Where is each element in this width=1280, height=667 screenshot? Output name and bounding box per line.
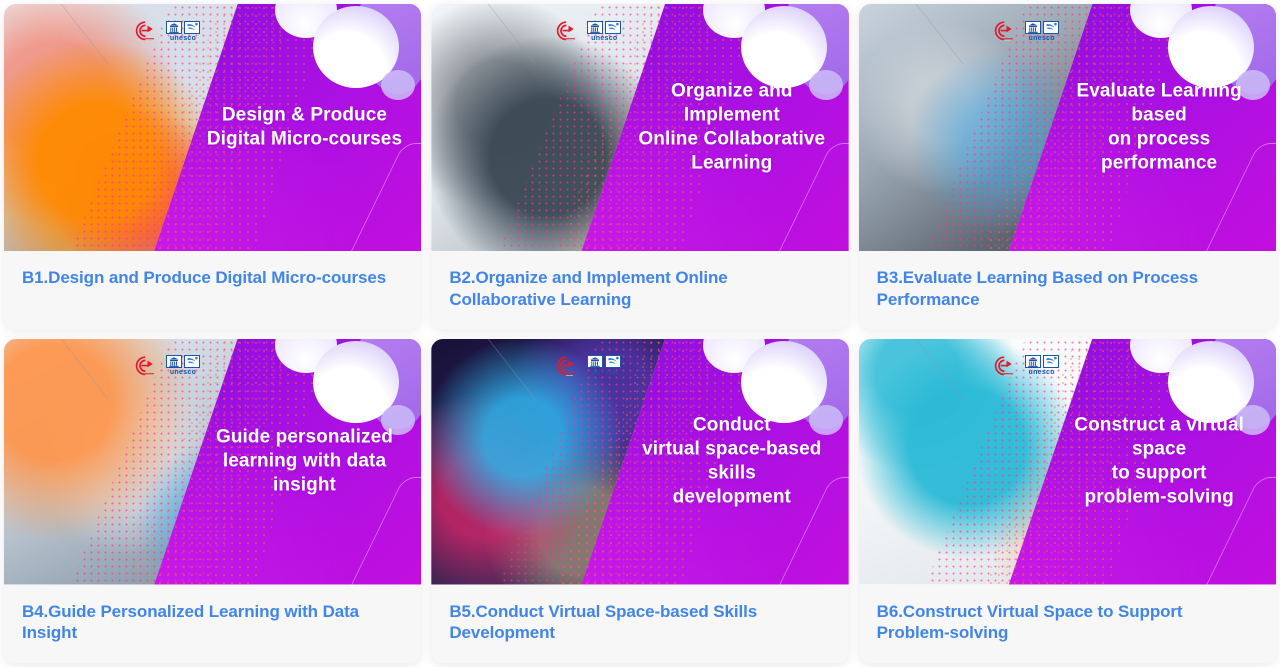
unesco-logo: unesco (1025, 21, 1059, 42)
banner-headline: Organize and ImplementOnline Collaborati… (632, 79, 832, 176)
unesco-wordmark: unesco (170, 35, 196, 42)
card-banner: unesco Construct a virtual spaceto suppo… (859, 339, 1276, 585)
banner-headline: Conductvirtual space-based skillsdevelop… (632, 413, 832, 510)
course-card-b2[interactable]: unesco Organize and ImplementOnline Coll… (431, 4, 848, 329)
logo-group: unesco (132, 19, 200, 43)
card-title-b3[interactable]: B3.Evaluate Learning Based on Process Pe… (877, 267, 1258, 311)
unesco-wordmark: unesco (591, 369, 617, 376)
card-banner: unesco Design & ProduceDigital Micro-cou… (4, 4, 421, 251)
banner-headline: Guide personalizedlearning with data ins… (204, 425, 404, 498)
card-title-b5[interactable]: B5.Conduct Virtual Space-based Skills De… (449, 601, 830, 645)
unesco-logo: unesco (587, 21, 621, 42)
unesco-wordmark: unesco (170, 369, 196, 376)
banner-headline: Design & ProduceDigital Micro-courses (204, 103, 404, 152)
course-card-grid: unesco Design & ProduceDigital Micro-cou… (0, 0, 1280, 667)
card-footer: B3.Evaluate Learning Based on Process Pe… (859, 251, 1276, 329)
cec-red-circle-logo (553, 354, 579, 378)
card-title-b1[interactable]: B1.Design and Produce Digital Micro-cour… (22, 267, 386, 289)
course-card-b6[interactable]: unesco Construct a virtual spaceto suppo… (859, 339, 1276, 664)
cec-red-circle-logo (132, 354, 158, 378)
unesco-logo: unesco (1025, 355, 1059, 376)
card-banner: unesco Evaluate Learning basedon process… (859, 4, 1276, 251)
course-card-b5[interactable]: unesco Conductvirtual space-based skills… (431, 339, 848, 664)
card-banner: unesco Conductvirtual space-based skills… (431, 339, 848, 585)
card-footer: B2.Organize and Implement Online Collabo… (431, 251, 848, 329)
card-title-b6[interactable]: B6.Construct Virtual Space to Support Pr… (877, 601, 1258, 645)
card-banner: unesco Guide personalizedlearning with d… (4, 339, 421, 585)
logo-group: unesco (553, 19, 621, 43)
logo-group: unesco (553, 354, 621, 378)
logo-group: unesco (132, 354, 200, 378)
cec-red-circle-logo (132, 19, 158, 43)
cec-red-circle-logo (991, 19, 1017, 43)
card-banner: unesco Organize and ImplementOnline Coll… (431, 4, 848, 251)
course-card-b1[interactable]: unesco Design & ProduceDigital Micro-cou… (4, 4, 421, 329)
logo-group: unesco (991, 354, 1059, 378)
card-title-b4[interactable]: B4.Guide Personalized Learning with Data… (22, 601, 403, 645)
unesco-logo: unesco (166, 21, 200, 42)
unesco-wordmark: unesco (591, 35, 617, 42)
card-title-b2[interactable]: B2.Organize and Implement Online Collabo… (449, 267, 830, 311)
course-card-b3[interactable]: unesco Evaluate Learning basedon process… (859, 4, 1276, 329)
unesco-logo: unesco (166, 355, 200, 376)
banner-headline: Evaluate Learning basedon process perfor… (1059, 79, 1259, 176)
card-footer: B5.Conduct Virtual Space-based Skills De… (431, 585, 848, 664)
card-footer: B1.Design and Produce Digital Micro-cour… (4, 251, 421, 329)
cec-red-circle-logo (553, 19, 579, 43)
unesco-wordmark: unesco (1029, 35, 1055, 42)
logo-group: unesco (991, 19, 1059, 43)
course-card-b4[interactable]: unesco Guide personalizedlearning with d… (4, 339, 421, 664)
unesco-wordmark: unesco (1029, 369, 1055, 376)
cec-red-circle-logo (991, 354, 1017, 378)
unesco-logo: unesco (587, 355, 621, 376)
card-footer: B6.Construct Virtual Space to Support Pr… (859, 585, 1276, 664)
card-footer: B4.Guide Personalized Learning with Data… (4, 585, 421, 664)
banner-headline: Construct a virtual spaceto supportprobl… (1059, 413, 1259, 510)
